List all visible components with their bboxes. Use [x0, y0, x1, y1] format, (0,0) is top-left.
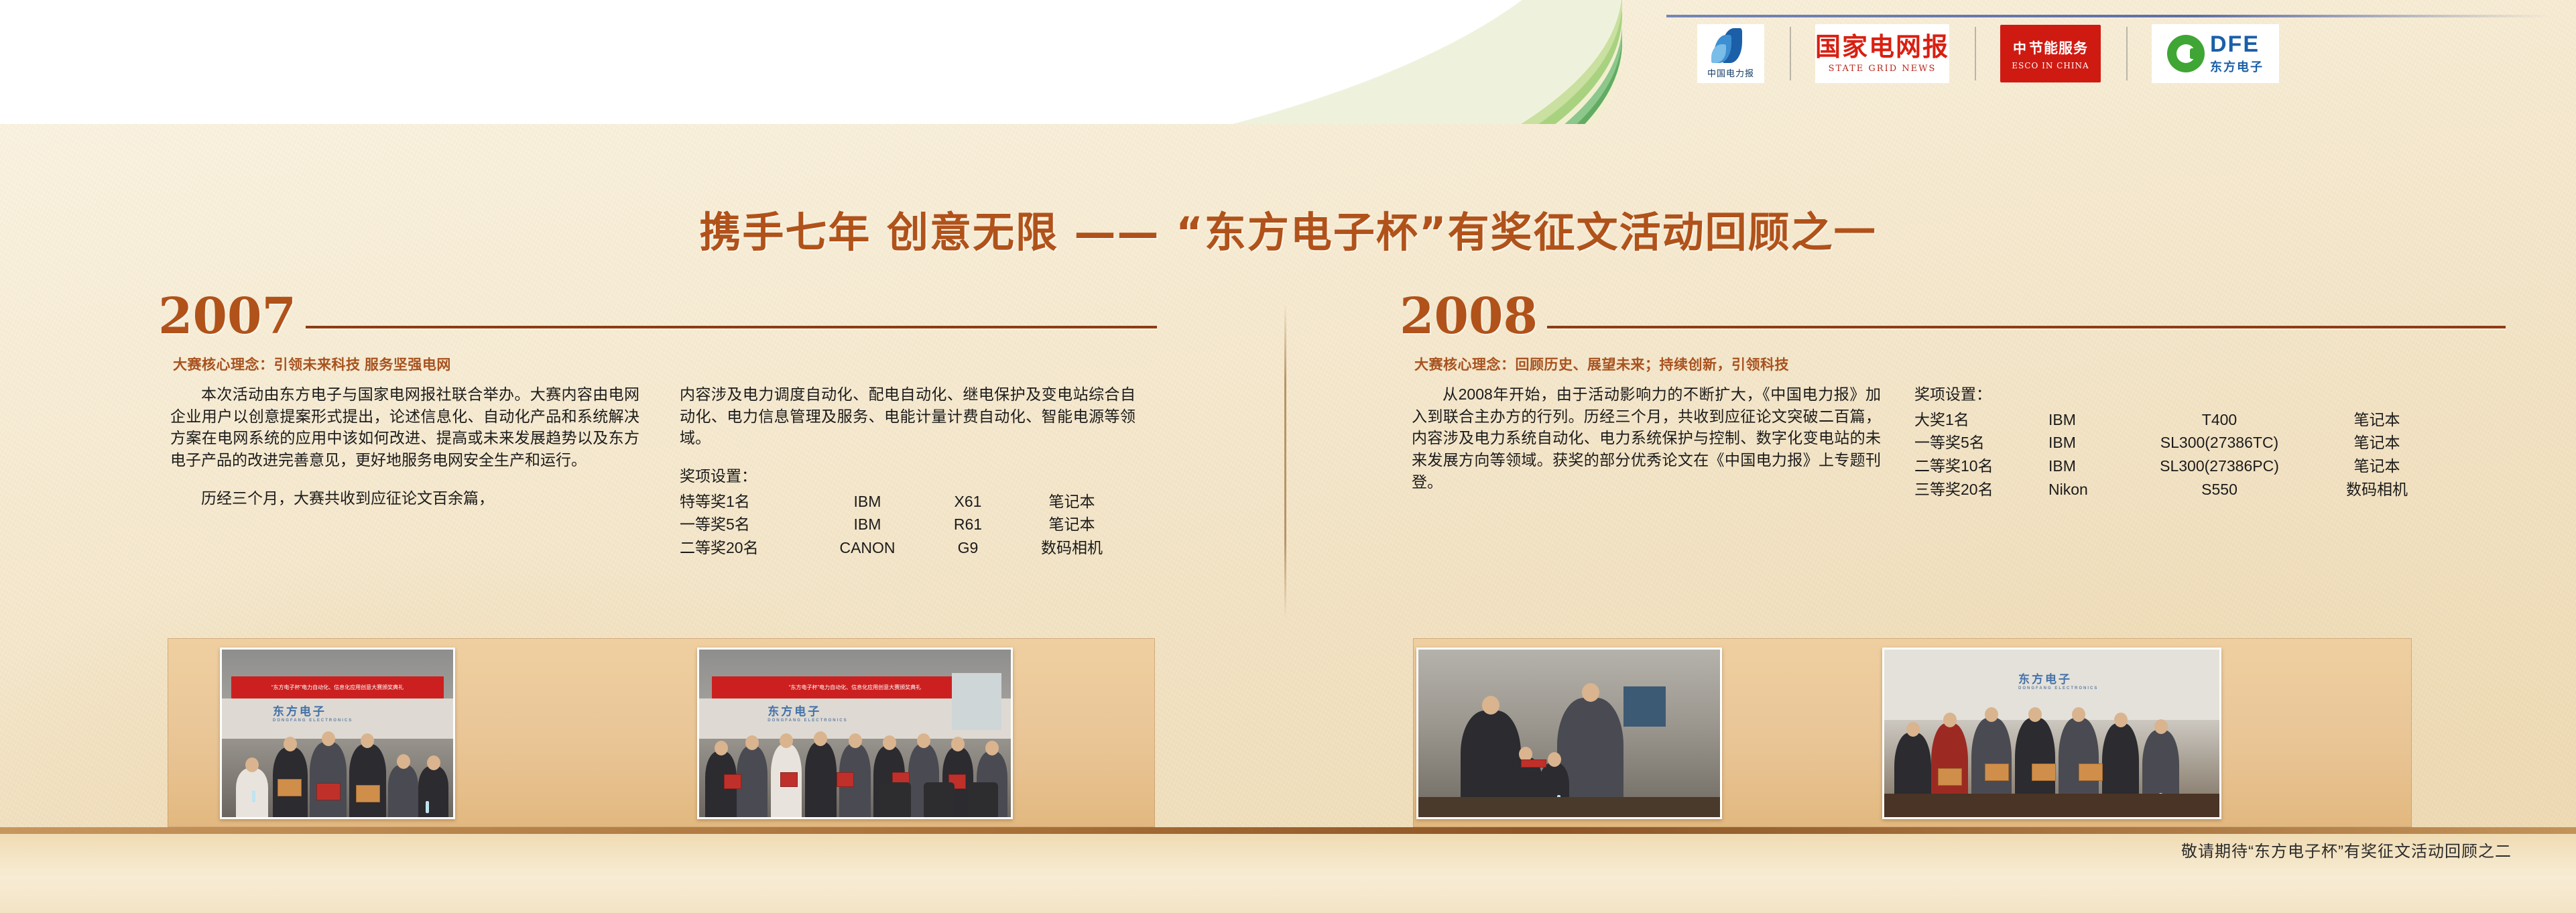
prize-box	[278, 779, 302, 796]
paragraph: 本次活动由东方电子与国家电网报社联合举办。大赛内容由电网企业用户以创意提案形式提…	[170, 383, 639, 471]
award-brand: IBM	[2048, 408, 2122, 432]
red-envelope	[1521, 759, 1546, 768]
awards-title: 奖项设置：	[680, 465, 1136, 487]
award-item: 笔记本	[2317, 454, 2437, 478]
conference-table	[1418, 797, 1720, 817]
headline-subtitle: “东方电子杯”有奖征文活动回顾之一	[1176, 208, 1877, 257]
body-column-right: 奖项设置： 大奖1名 IBM T400 笔记本 一等奖5名 IBM SL300(…	[1914, 383, 2444, 509]
photo-wall-logo-cn: 东方电子	[2018, 673, 2072, 686]
paragraph: 从2008年开始，由于活动影响力的不断扩大，《中国电力报》加入到联合主办方的行列…	[1412, 383, 1881, 493]
award-item: 笔记本	[1015, 490, 1129, 513]
photo-wall-logo-en: DONGFANG ELECTRONICS	[2018, 686, 2098, 690]
core-concept-value: 引领未来科技 服务坚强电网	[274, 357, 451, 373]
year-header: 2007	[158, 294, 1157, 339]
year-number: 2008	[1400, 294, 1538, 339]
logo-china-electric-power-news[interactable]: 中国电力报	[1672, 23, 1790, 84]
prize-box	[2032, 764, 2056, 781]
chair	[924, 782, 955, 817]
prize-box	[724, 774, 741, 789]
prize-box	[316, 783, 341, 800]
column-divider	[1284, 303, 1286, 618]
photo-award-group-2008-b[interactable]: 东方电子 DONGFANG ELECTRONICS	[1882, 648, 2221, 819]
page-title: 携手七年 创意无限 —— “东方电子杯”有奖征文活动回顾之一	[0, 198, 2576, 259]
award-brand: IBM	[814, 490, 921, 513]
award-brand: IBM	[2048, 454, 2122, 478]
wave-mark-icon	[1711, 28, 1750, 64]
poster-canvas: 01010101010101010101010101 中国电力报 国家电网报 S…	[0, 0, 2576, 913]
photo-crowd	[699, 723, 1011, 817]
photo-strip-2007: 东方电子 DONGFANG ELECTRONICS “东方电子杯”电力自动化、信…	[168, 638, 1155, 827]
body-column-left: 从2008年开始，由于活动影响力的不断扩大，《中国电力报》加入到联合主办方的行列…	[1412, 383, 1881, 509]
conference-table	[1884, 794, 2219, 817]
dfe-circle-icon	[2167, 35, 2205, 72]
person	[418, 766, 448, 817]
award-item: 笔记本	[2317, 408, 2437, 432]
award-model: SL300(27386TC)	[2122, 431, 2317, 454]
year-section-2008: 2008 大赛核心理念：回顾历史、展望未来；持续创新，引领科技 从2008年开始…	[1400, 294, 2506, 509]
logo-cn-text: 节能服务	[2029, 38, 2088, 58]
award-brand: Nikon	[2048, 478, 2122, 501]
person	[310, 742, 347, 817]
logo-caption: 中国电力报	[1707, 66, 1754, 79]
logo-cn-text: 东方电子	[2210, 58, 2264, 75]
logo-en-text: STATE GRID NEWS	[1829, 64, 1937, 74]
award-model: G9	[921, 536, 1015, 560]
logo-abbr-text: DFE	[2210, 33, 2264, 56]
person	[805, 742, 837, 817]
award-brand: CANON	[814, 536, 921, 560]
award-model: S550	[2122, 478, 2317, 501]
photo-award-ceremony-2007-b[interactable]: 东方电子 DONGFANG ELECTRONICS “东方电子杯”电力自动化、信…	[697, 648, 1013, 819]
logo-en-text: ESCO IN CHINA	[2012, 61, 2089, 70]
prize-box	[356, 785, 380, 802]
core-concept-value: 回顾历史、展望未来；持续创新，引领科技	[1516, 357, 1790, 373]
award-level: 特等奖1名	[680, 490, 814, 513]
photo-wall-logo: 东方电子 DONGFANG ELECTRONICS	[768, 702, 847, 723]
headline-main: 携手七年 创意无限	[699, 208, 1058, 257]
photo-banner: “东方电子杯”电力自动化、信息化应用创意大赛颁奖典礼	[231, 676, 444, 698]
table-row: 一等奖5名 IBM SL300(27386TC) 笔记本	[1914, 431, 2437, 454]
footer-note: 敬请期待“东方电子杯”有奖征文活动回顾之二	[2181, 838, 2512, 861]
table-row: 特等奖1名 IBM X61 笔记本	[680, 490, 1129, 513]
binary-ring-icon: 01010101010101010101010101	[171, 0, 325, 11]
award-level: 三等奖20名	[1914, 478, 2048, 501]
logo-dfe-dongfang-electronics[interactable]: DFE 东方电子	[2126, 23, 2305, 84]
photo-wall-logo-en: DONGFANG ELECTRONICS	[768, 719, 847, 723]
body-column-right: 内容涉及电力调度自动化、配电自动化、继电保护及变电站综合自动化、电力信息管理及服…	[680, 383, 1136, 560]
award-model: T400	[2122, 408, 2317, 432]
year-number: 2007	[158, 294, 296, 339]
photo-award-handover-2008-a[interactable]	[1416, 648, 1722, 819]
award-model: R61	[921, 513, 1015, 536]
chair	[880, 782, 911, 817]
award-brand: IBM	[814, 513, 921, 536]
year-rule	[306, 326, 1157, 328]
award-model: SL300(27386PC)	[2122, 454, 2317, 478]
year-header: 2008	[1400, 294, 2506, 339]
paragraph: 历经三个月，大赛共收到应征论文百余篇，	[170, 487, 639, 509]
table-row: 三等奖20名 Nikon S550 数码相机	[1914, 478, 2437, 501]
core-concept: 大赛核心理念：回顾历史、展望未来；持续创新，引领科技	[1414, 354, 2506, 374]
projector-screen	[952, 673, 1001, 730]
photo-award-ceremony-2007-a[interactable]: 东方电子 DONGFANG ELECTRONICS “东方电子杯”电力自动化、信…	[220, 648, 455, 819]
core-concept: 大赛核心理念：引领未来科技 服务坚强电网	[173, 354, 1157, 374]
award-item: 笔记本	[1015, 513, 1129, 536]
award-level: 二等奖10名	[1914, 454, 2048, 478]
top-decorative-band: 01010101010101010101010101	[0, 0, 1716, 124]
award-brand: IBM	[2048, 431, 2122, 454]
bottom-accent-bar	[0, 827, 2576, 834]
person	[388, 765, 418, 817]
awards-table: 大奖1名 IBM T400 笔记本 一等奖5名 IBM SL300(27386T…	[1914, 408, 2437, 501]
water-bottle	[252, 790, 255, 802]
logo-state-grid-news[interactable]: 国家电网报 STATE GRID NEWS	[1790, 23, 1975, 84]
paragraph: 内容涉及电力调度自动化、配电自动化、继电保护及变电站综合自动化、电力信息管理及服…	[680, 383, 1136, 449]
sun-binary-decoration: 01010101010101010101010101	[171, 0, 325, 54]
zhong-glyph-icon: 中	[2013, 38, 2026, 57]
logo-divider-line	[1666, 15, 2551, 17]
core-concept-label: 大赛核心理念：	[173, 357, 274, 373]
table-row: 大奖1名 IBM T400 笔记本	[1914, 408, 2437, 432]
photo-wall-logo: 东方电子 DONGFANG ELECTRONICS	[273, 702, 353, 723]
awards-title: 奖项设置：	[1914, 383, 2444, 406]
award-model: X61	[921, 490, 1015, 513]
photo-wall-logo: 东方电子 DONGFANG ELECTRONICS	[2018, 670, 2098, 690]
prize-box	[780, 772, 798, 787]
body-column-left: 本次活动由东方电子与国家电网报社联合举办。大赛内容由电网企业用户以创意提案形式提…	[170, 383, 639, 560]
photo-strip-2008: 东方电子 DONGFANG ELECTRONICS	[1413, 638, 2412, 827]
prize-box	[2079, 764, 2103, 781]
table-row: 一等奖5名 IBM R61 笔记本	[680, 513, 1129, 536]
table-row: 二等奖20名 CANON G9 数码相机	[680, 536, 1129, 560]
award-level: 大奖1名	[1914, 408, 2048, 432]
water-bottle	[426, 801, 429, 813]
headline-dash: ——	[1075, 208, 1160, 257]
award-level: 一等奖5名	[680, 513, 814, 536]
award-level: 二等奖20名	[680, 536, 814, 560]
chair	[967, 782, 998, 817]
photo-wall-logo-cn: 东方电子	[768, 705, 821, 718]
photo-wall-logo-cn: 东方电子	[273, 705, 326, 718]
awards-table: 特等奖1名 IBM X61 笔记本 一等奖5名 IBM R61 笔记本 二等奖2…	[680, 490, 1129, 560]
award-item: 笔记本	[2317, 431, 2437, 454]
prize-box	[1938, 768, 1962, 786]
photo-wall-logo-en: DONGFANG ELECTRONICS	[273, 719, 353, 723]
prize-box	[837, 772, 854, 787]
award-item: 数码相机	[1015, 536, 1129, 560]
person	[349, 744, 386, 817]
logo-esco-in-china[interactable]: 中 节能服务 ESCO IN CHINA	[1975, 23, 2126, 84]
core-concept-label: 大赛核心理念：	[1414, 357, 1516, 373]
prize-box	[1985, 764, 2009, 781]
logo-cn-text: 国家电网报	[1815, 34, 1949, 60]
award-item: 数码相机	[2317, 478, 2437, 501]
sponsor-logo-bar: 中国电力报 国家电网报 STATE GRID NEWS 中 节能服务 ESCO …	[1666, 0, 2561, 87]
award-level: 一等奖5名	[1914, 431, 2048, 454]
year-section-2007: 2007 大赛核心理念：引领未来科技 服务坚强电网 本次活动由东方电子与国家电网…	[158, 294, 1157, 560]
photo-crowd	[222, 723, 453, 817]
table-row: 二等奖10名 IBM SL300(27386PC) 笔记本	[1914, 454, 2437, 478]
year-rule	[1547, 326, 2506, 328]
